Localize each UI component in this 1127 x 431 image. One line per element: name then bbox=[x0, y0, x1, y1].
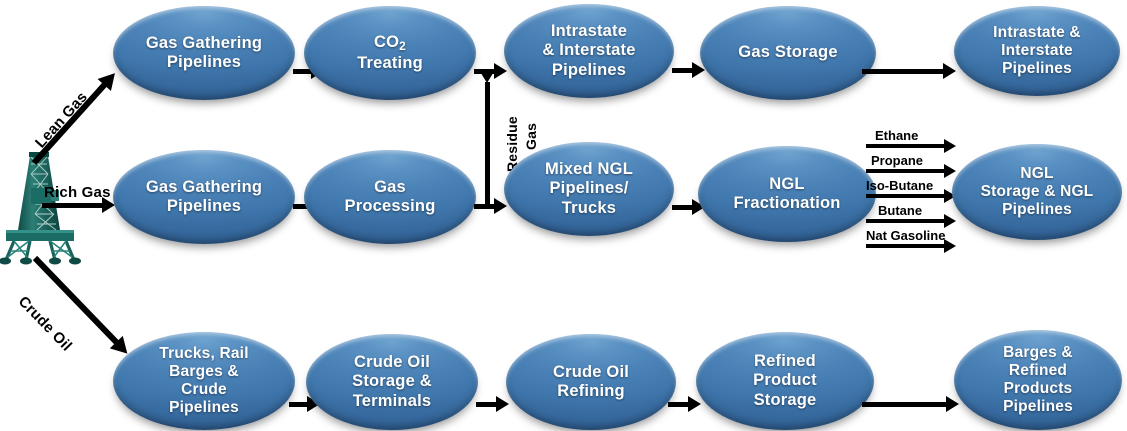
ngl-label-iso-butane: Iso-Butane bbox=[866, 178, 933, 193]
node-label: Gas Gathering Pipelines bbox=[140, 178, 268, 216]
node-gas-gathering-pipelines-mid[interactable]: Gas Gathering Pipelines bbox=[113, 150, 295, 244]
node-label: Barges & Refined Products Pipelines bbox=[997, 344, 1079, 416]
node-intrastate-interstate-pipelines-end[interactable]: Intrastate & Interstate Pipelines bbox=[954, 6, 1120, 96]
arrow-shaft bbox=[672, 68, 694, 73]
arrow-shaft bbox=[485, 82, 490, 206]
node-trucks-rail-barges-crude-pipelines[interactable]: Trucks, Rail Barges & Crude Pipelines bbox=[113, 332, 295, 430]
oil-rig-icon bbox=[0, 152, 82, 268]
node-ngl-storage-pipelines[interactable]: NGL Storage & NGL Pipelines bbox=[952, 144, 1122, 240]
arrow-shaft bbox=[866, 244, 946, 248]
node-mixed-ngl-pipelines-trucks[interactable]: Mixed NGL Pipelines/ Trucks bbox=[504, 142, 674, 236]
arrow-head bbox=[494, 198, 507, 214]
node-label: Crude Oil Storage & Terminals bbox=[346, 353, 438, 410]
arrow-shaft bbox=[476, 402, 498, 407]
node-label: Mixed NGL Pipelines/ Trucks bbox=[539, 160, 639, 217]
node-label: Crude Oil Refining bbox=[547, 363, 635, 401]
node-label: Intrastate & Interstate Pipelines bbox=[987, 24, 1087, 78]
arrow-shaft bbox=[862, 402, 948, 407]
node-ngl-fractionation[interactable]: NGL Fractionation bbox=[698, 146, 876, 242]
node-label: Trucks, Rail Barges & Crude Pipelines bbox=[153, 345, 254, 417]
arrow-head bbox=[494, 63, 507, 79]
arrow-shaft bbox=[866, 144, 946, 148]
node-gas-storage[interactable]: Gas Storage bbox=[700, 6, 876, 100]
arrow-shaft bbox=[866, 194, 946, 198]
edge-label-residue-gas-line2: Gas bbox=[523, 123, 539, 150]
node-label: Refined Product Storage bbox=[747, 352, 823, 409]
arrow-head bbox=[479, 70, 495, 83]
ngl-label-propane: Propane bbox=[871, 153, 923, 168]
arrow-shaft bbox=[672, 205, 694, 210]
arrow-shaft bbox=[866, 169, 946, 173]
node-label: NGL Storage & NGL Pipelines bbox=[975, 165, 1100, 219]
arrow-shaft bbox=[474, 204, 496, 209]
ngl-label-butane: Butane bbox=[878, 203, 922, 218]
arrow-head bbox=[944, 164, 956, 178]
arrow-shaft bbox=[668, 402, 690, 407]
node-label: Intrastate & Interstate Pipelines bbox=[536, 22, 641, 79]
flow-diagram-canvas: Lean Gas Rich Gas Crude Oil Gas Gatherin… bbox=[0, 0, 1127, 431]
ngl-label-ethane: Ethane bbox=[875, 128, 918, 143]
node-label: CO2Treating bbox=[351, 33, 429, 73]
node-label: Gas Processing bbox=[339, 178, 442, 216]
node-label: Gas Storage bbox=[732, 43, 843, 62]
arrow-head bbox=[944, 214, 956, 228]
node-gas-gathering-pipelines-top[interactable]: Gas Gathering Pipelines bbox=[113, 6, 295, 100]
arrow-shaft bbox=[866, 219, 946, 223]
node-label: NGL Fractionation bbox=[727, 175, 846, 213]
node-barges-refined-products-pipelines[interactable]: Barges & Refined Products Pipelines bbox=[954, 330, 1122, 430]
edge-label-lean-gas: Lean Gas bbox=[32, 89, 91, 152]
node-co2-treating[interactable]: CO2Treating bbox=[304, 6, 476, 100]
arrow-head bbox=[496, 396, 509, 412]
edge-label-rich-gas: Rich Gas bbox=[44, 184, 111, 201]
node-label: Gas Gathering Pipelines bbox=[140, 34, 268, 72]
arrow-head bbox=[688, 396, 701, 412]
arrow-head bbox=[943, 63, 956, 79]
arrow-head bbox=[944, 139, 956, 153]
arrow-shaft bbox=[42, 203, 104, 208]
node-crude-oil-storage-terminals[interactable]: Crude Oil Storage & Terminals bbox=[306, 334, 478, 430]
node-intrastate-interstate-pipelines-mid[interactable]: Intrastate & Interstate Pipelines bbox=[504, 4, 674, 98]
edge-label-crude-oil: Crude Oil bbox=[15, 293, 75, 355]
ngl-label-nat-gasoline: Nat Gasoline bbox=[866, 228, 945, 243]
arrow-head bbox=[944, 239, 956, 253]
arrow-shaft bbox=[289, 402, 309, 407]
arrow-head bbox=[946, 396, 959, 412]
arrow-shaft bbox=[862, 69, 945, 74]
node-refined-product-storage[interactable]: Refined Product Storage bbox=[696, 332, 874, 430]
node-crude-oil-refining[interactable]: Crude Oil Refining bbox=[506, 334, 676, 430]
node-gas-processing[interactable]: Gas Processing bbox=[304, 150, 476, 244]
